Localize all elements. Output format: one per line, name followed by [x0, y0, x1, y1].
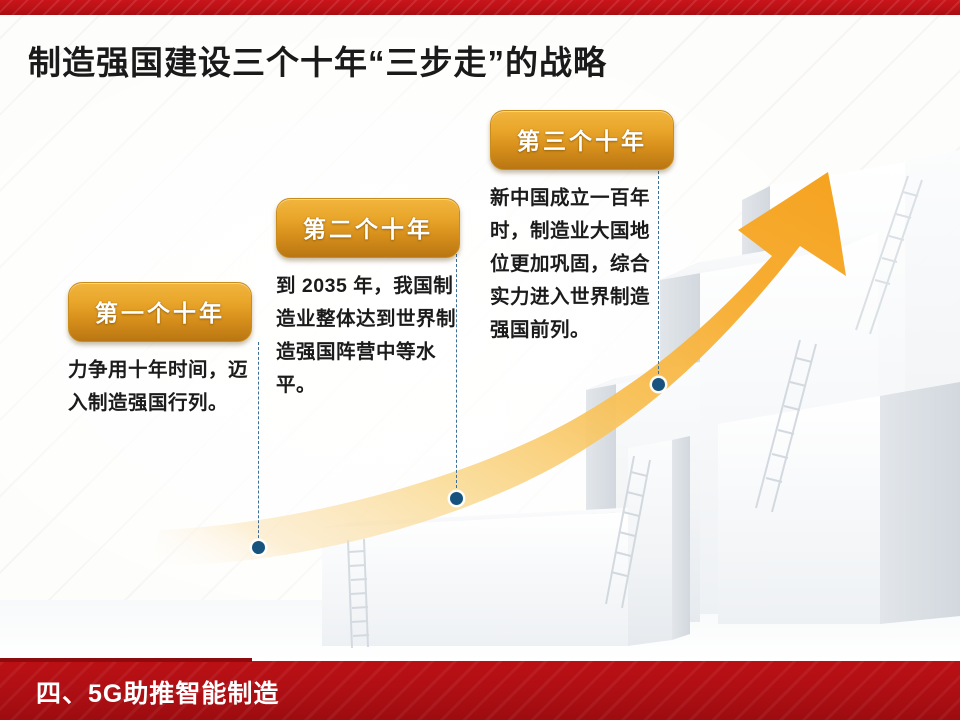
milestone-dot-3 — [652, 378, 665, 391]
callout-body-step-2: 到 2035 年，我国制造业整体达到世界制造强国阵营中等水平。 — [276, 270, 456, 402]
callout-body-step-3: 新中国成立一百年时，制造业大国地位更加巩固，综合实力进入世界制造强国前列。 — [490, 182, 660, 347]
bottom-band-notch — [0, 658, 252, 662]
chip-step-1[interactable]: 第一个十年 — [68, 282, 252, 342]
section-label: 四、5G助推智能制造 — [36, 674, 279, 710]
chip-step-3[interactable]: 第三个十年 — [490, 110, 674, 170]
block-right-low — [718, 382, 960, 624]
chip-label-step-3: 第三个十年 — [517, 122, 647, 156]
chip-step-2[interactable]: 第二个十年 — [276, 198, 460, 258]
slide-root: 制造强国建设三个十年“三步走”的战略 第一个十年 力争用十年时间，迈入制造强国行… — [0, 0, 960, 720]
milestone-dot-1 — [252, 541, 265, 554]
page-title: 制造强国建设三个十年“三步走”的战略 — [28, 36, 607, 84]
connector-line-2 — [456, 254, 457, 498]
callout-body-step-1: 力争用十年时间，迈入制造强国行列。 — [68, 354, 258, 420]
callout-step-1[interactable]: 第一个十年 力争用十年时间，迈入制造强国行列。 — [68, 282, 258, 420]
callout-step-2[interactable]: 第二个十年 到 2035 年，我国制造业整体达到世界制造强国阵营中等水平。 — [276, 198, 456, 402]
bottom-red-band: 四、5G助推智能制造 — [0, 661, 960, 720]
connector-line-1 — [258, 342, 259, 548]
chip-label-step-2: 第二个十年 — [303, 210, 433, 244]
callout-step-3[interactable]: 第三个十年 新中国成立一百年时，制造业大国地位更加巩固，综合实力进入世界制造强国… — [490, 110, 660, 347]
block-narrow-vertical — [628, 436, 690, 646]
milestone-dot-2 — [450, 492, 463, 505]
chip-label-step-1: 第一个十年 — [95, 294, 225, 328]
